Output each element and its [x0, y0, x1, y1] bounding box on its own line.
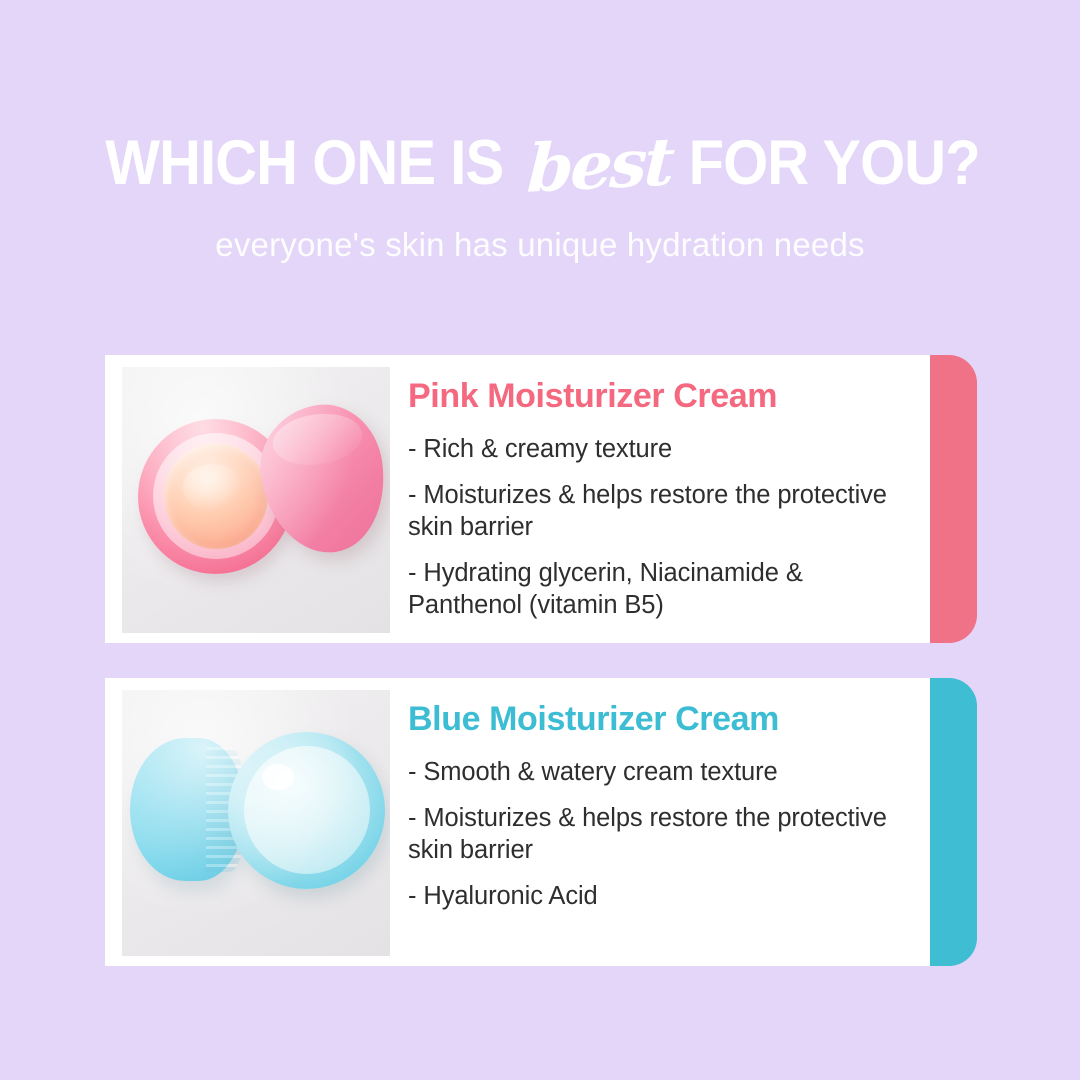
- headline-script-word: best: [520, 128, 680, 202]
- product-title: Blue Moisturizer Cream: [408, 702, 908, 738]
- product-photo-blue: [122, 690, 390, 956]
- product-card-blue[interactable]: Oily Skin Blue Moisturizer Cream - Smoot…: [105, 678, 977, 966]
- product-card-body: Pink Moisturizer Cream - Rich & creamy t…: [105, 355, 930, 643]
- headline-part-before: WHICH ONE IS: [105, 132, 503, 195]
- product-text-column: Pink Moisturizer Cream - Rich & creamy t…: [390, 355, 930, 621]
- jar-cream-shape: [244, 746, 370, 874]
- headline-part-after: FOR YOU?: [689, 132, 980, 195]
- product-bullet: - Moisturizes & helps restore the protec…: [408, 802, 908, 866]
- header: WHICH ONE ISbestFOR YOU? everyone's skin…: [0, 0, 1080, 264]
- product-card-pink[interactable]: Dry Skin Pink Moisturizer Cream - Rich &…: [105, 355, 977, 643]
- product-bullet: - Smooth & watery cream texture: [408, 756, 908, 788]
- product-text-column: Blue Moisturizer Cream - Smooth & watery…: [390, 678, 930, 912]
- page-subtitle: everyone's skin has unique hydration nee…: [0, 226, 1080, 264]
- product-card-body: Blue Moisturizer Cream - Smooth & watery…: [105, 678, 930, 966]
- product-title: Pink Moisturizer Cream: [408, 379, 908, 415]
- jar-cream-shape: [164, 443, 268, 549]
- product-bullet: - Hydrating glycerin, Niacinamide & Pant…: [408, 557, 908, 621]
- page-headline: WHICH ONE ISbestFOR YOU?: [0, 128, 1080, 206]
- product-bullet: - Moisturizes & helps restore the protec…: [408, 479, 908, 543]
- product-photo-pink: [122, 367, 390, 633]
- product-bullet: - Rich & creamy texture: [408, 433, 908, 465]
- product-bullet: - Hyaluronic Acid: [408, 880, 908, 912]
- product-card-list: Dry Skin Pink Moisturizer Cream - Rich &…: [105, 355, 977, 1001]
